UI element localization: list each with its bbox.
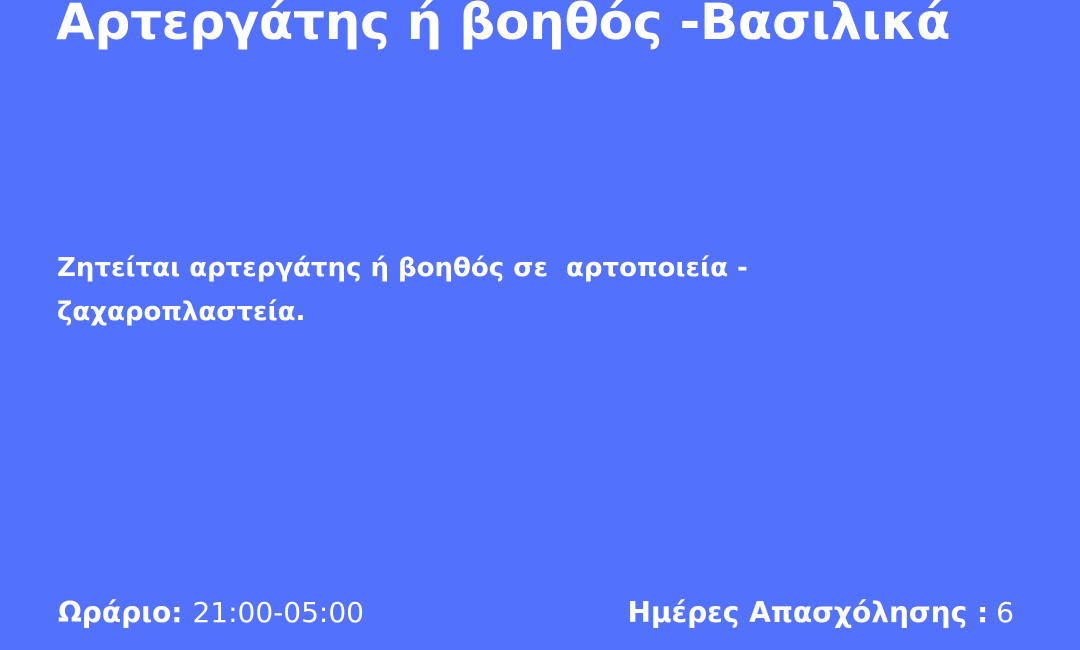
job-description: Ζητείται αρτεργάτης ή βοηθός σε αρτοποιε… — [57, 246, 887, 334]
workdays-info: Ημέρες Απασχόλησης : 6 — [627, 599, 1014, 627]
schedule-info: Ωράριο: 21:00-05:00 — [58, 599, 364, 627]
workdays-value: 6 — [996, 599, 1014, 627]
job-posting-card: Αρτεργάτης ή βοηθός -Βασιλικά Ζητείται α… — [0, 0, 1080, 650]
schedule-value: 21:00-05:00 — [192, 599, 364, 627]
card-footer: Ωράριο: 21:00-05:00 Ημέρες Απασχόλησης :… — [0, 586, 1080, 650]
workdays-label: Ημέρες Απασχόλησης : — [627, 599, 988, 627]
schedule-label: Ωράριο: — [58, 599, 182, 627]
page-title: Αρτεργάτης ή βοηθός -Βασιλικά — [56, 0, 1024, 50]
